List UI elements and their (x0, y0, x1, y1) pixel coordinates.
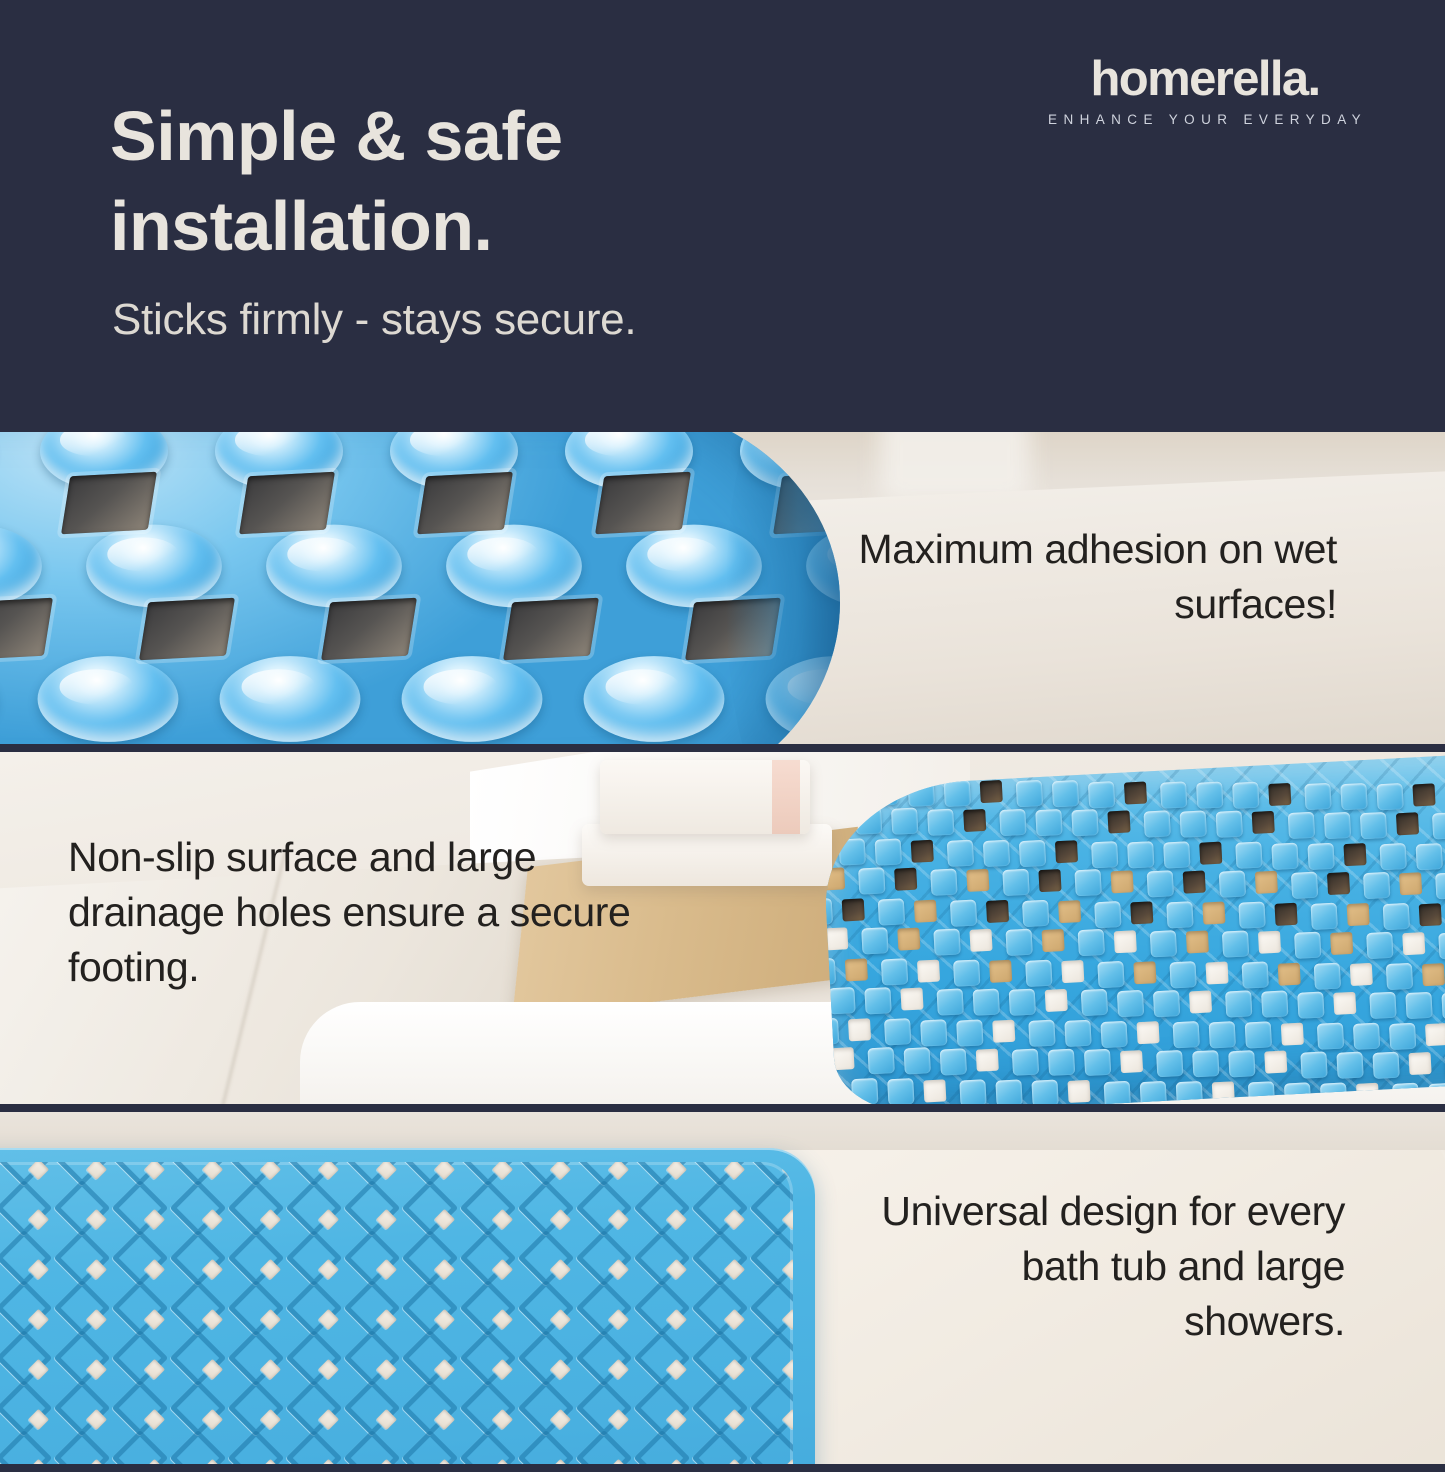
raised-square (1196, 782, 1223, 809)
raised-square (947, 839, 974, 866)
drainage-hole (911, 839, 934, 862)
diamond-motif (54, 1230, 111, 1287)
raised-square (908, 779, 935, 806)
diamond-motif (576, 1180, 633, 1237)
drainage-hole (900, 988, 923, 1011)
diamond-motif (460, 1180, 517, 1237)
diamond-motif (576, 1380, 633, 1437)
drainage-hole (976, 1048, 999, 1071)
brand-tagline: ENHANCE YOUR EVERYDAY (1048, 113, 1367, 127)
drainage-hole (1350, 963, 1373, 986)
drainage-hole (1327, 872, 1350, 895)
suction-cup (0, 525, 42, 608)
brand-logo: homerella. ENHANCE YOUR EVERYDAY (1043, 55, 1367, 127)
diamond-motif (576, 1280, 633, 1337)
suction-cup (86, 525, 222, 608)
raised-square (956, 1019, 983, 1046)
diamond-motif (692, 1330, 749, 1387)
diamond-motif (344, 1180, 401, 1237)
raised-square (1291, 871, 1318, 898)
drainage-hole (239, 472, 335, 535)
drainage-hole (1042, 929, 1065, 952)
diamond-motif (518, 1180, 575, 1237)
drainage-hole (1399, 872, 1422, 895)
drainage-hole (1202, 902, 1225, 925)
raised-square (953, 959, 980, 986)
raised-square (887, 1078, 914, 1105)
raised-square (1209, 1021, 1236, 1048)
raised-square (864, 987, 891, 1014)
raised-square (1317, 1022, 1344, 1049)
drainage-hole (1205, 962, 1228, 985)
drainage-hole (1061, 960, 1084, 983)
drainage-hole (963, 809, 986, 832)
raised-square (1245, 1022, 1272, 1049)
diamond-motif (402, 1180, 459, 1237)
drainage-hole (1402, 932, 1425, 955)
suction-cup (266, 525, 402, 608)
raised-square (940, 1048, 967, 1075)
diamond-motif (0, 1180, 52, 1237)
brand-name: homerella. (1043, 55, 1367, 104)
raised-square (1314, 962, 1341, 989)
drainage-hole (1330, 932, 1353, 955)
drainage-hole (1258, 931, 1281, 954)
raised-square (1156, 1050, 1183, 1077)
diamond-motif (692, 1280, 749, 1337)
drainage-hole (986, 900, 1009, 923)
diamond-motif (460, 1330, 517, 1387)
drainage-hole (1183, 871, 1206, 894)
drainage-hole (503, 598, 599, 661)
raised-square (1324, 812, 1351, 839)
diamond-motif (286, 1330, 343, 1387)
raised-square (1153, 990, 1180, 1017)
raised-square (1363, 872, 1390, 899)
drainage-hole (825, 927, 848, 950)
raised-square (881, 959, 908, 986)
drainage-hole (1409, 1052, 1432, 1075)
drainage-hole (1130, 901, 1153, 924)
diamond-motif (170, 1280, 227, 1337)
drainage-hole (1133, 961, 1156, 984)
diamond-motif (576, 1230, 633, 1287)
diamond-motif (402, 1230, 459, 1287)
page-title: Simple & safe installation. (110, 92, 870, 271)
raised-square (1288, 811, 1315, 838)
raised-square (1228, 1050, 1255, 1077)
header-banner: Simple & safe installation. Sticks firml… (0, 0, 1445, 432)
mat-underside-closeup (0, 432, 840, 746)
raised-square (1438, 932, 1445, 959)
raised-square (1225, 990, 1252, 1017)
diamond-motif (286, 1180, 343, 1237)
drainage-hole (1264, 1051, 1287, 1074)
raised-square (858, 867, 885, 894)
raised-square (1052, 780, 1079, 807)
diamond-motif (518, 1230, 575, 1287)
drainage-hole (969, 929, 992, 952)
raised-square (1002, 869, 1029, 896)
drainage-hole (321, 598, 417, 661)
diamond-motif (344, 1280, 401, 1337)
drainage-hole (1255, 871, 1278, 894)
diamond-motif (170, 1230, 227, 1287)
drainage-hole (989, 960, 1012, 983)
drainage-hole (1124, 781, 1147, 804)
raised-square (1064, 1020, 1091, 1047)
drainage-hole (1252, 811, 1275, 834)
diamond-motif (54, 1330, 111, 1387)
drainage-hole (914, 899, 937, 922)
diamond-motif (286, 1280, 343, 1337)
raised-square (959, 1079, 986, 1106)
raised-square (839, 838, 866, 865)
diamond-motif (228, 1330, 285, 1387)
drainage-hole (842, 899, 865, 922)
raised-square (875, 839, 902, 866)
raised-square (1006, 929, 1033, 956)
drainage-hole (966, 869, 989, 892)
drainage-hole (917, 959, 940, 982)
raised-square (1238, 902, 1265, 929)
caption-universal: Universal design for every bath tub and … (875, 1184, 1345, 1349)
diamond-motif (460, 1280, 517, 1337)
raised-square (1222, 931, 1249, 958)
drainage-hole (992, 1020, 1015, 1043)
mat-full-top-view (0, 1148, 815, 1472)
mat-inner-field (0, 1162, 793, 1472)
raised-square (851, 1078, 878, 1105)
diamond-motif (460, 1380, 517, 1437)
raised-square (1242, 962, 1269, 989)
page-subtitle: Sticks firmly - stays secure. (112, 294, 912, 347)
drainage-hole (1045, 989, 1068, 1012)
raised-square (1261, 991, 1288, 1018)
diamond-motif (112, 1380, 169, 1437)
suction-cup (38, 656, 179, 742)
raised-square (1219, 871, 1246, 898)
diamond-motif (286, 1230, 343, 1287)
raised-square (999, 809, 1026, 836)
drainage-hole (1199, 842, 1222, 865)
raised-square (1336, 1051, 1363, 1078)
raised-square (1117, 990, 1144, 1017)
raised-square (1372, 1052, 1399, 1079)
diamond-motif (750, 1330, 793, 1387)
drainage-hole (1419, 904, 1442, 927)
raised-square (1160, 781, 1187, 808)
raised-square (1307, 843, 1334, 870)
raised-square (1025, 960, 1052, 987)
raised-square (1084, 1049, 1111, 1076)
diamond-motif (112, 1330, 169, 1387)
raised-square (1019, 840, 1046, 867)
raised-square (1150, 930, 1177, 957)
raised-square (1071, 809, 1098, 836)
drainage-hole (1058, 900, 1081, 923)
raised-square (920, 1019, 947, 1046)
drainage-hole (1412, 784, 1435, 807)
raised-square (973, 988, 1000, 1015)
drainage-hole (1268, 783, 1291, 806)
raised-square (1366, 932, 1393, 959)
drainage-hole (1422, 964, 1445, 987)
diamond-motif (634, 1380, 691, 1437)
raised-square (1173, 1021, 1200, 1048)
diamond-motif (750, 1180, 793, 1237)
diamond-motif (750, 1380, 793, 1437)
raised-square (1294, 931, 1321, 958)
diamond-motif (460, 1230, 517, 1287)
drainage-hole (1038, 869, 1061, 892)
raised-square (1163, 841, 1190, 868)
diamond-motif (634, 1230, 691, 1287)
raised-square (1147, 870, 1174, 897)
raised-square (995, 1079, 1022, 1106)
raised-square (1311, 902, 1338, 929)
drainage-hole (139, 598, 235, 661)
drainage-hole (1107, 810, 1130, 833)
drainage-hole (923, 1079, 946, 1102)
raised-square (1216, 811, 1243, 838)
diamond-motif (228, 1180, 285, 1237)
raised-square (1166, 901, 1193, 928)
diamond-motif (344, 1380, 401, 1437)
diamond-motif (692, 1380, 749, 1437)
raised-square (891, 808, 918, 835)
bottom-border (0, 1464, 1445, 1472)
diamond-motif (112, 1180, 169, 1237)
diamond-motif (0, 1380, 52, 1437)
panel-divider (0, 1104, 1445, 1112)
drainage-hole (1114, 930, 1137, 953)
raised-square (861, 927, 888, 954)
caption-non-slip: Non-slip surface and large drainage hole… (68, 830, 668, 995)
drainage-hole (831, 1047, 854, 1070)
drainage-hole (1425, 1023, 1445, 1046)
diamond-motif (54, 1380, 111, 1437)
diamond-motif (0, 1330, 52, 1387)
raised-square (1031, 1080, 1058, 1106)
raised-square (855, 808, 882, 835)
raised-square (1416, 843, 1443, 870)
diamond-motif (402, 1280, 459, 1337)
suction-cup (446, 525, 582, 608)
towel-stack-upper (600, 760, 810, 834)
diamond-motif (112, 1230, 169, 1287)
drainage-hole (845, 959, 868, 982)
drainage-hole (822, 867, 845, 890)
drainage-hole (595, 472, 691, 535)
drainage-hole (1120, 1050, 1143, 1073)
raised-square (1088, 781, 1115, 808)
diamond-motif (518, 1280, 575, 1337)
raised-square (1097, 960, 1124, 987)
diamond-motif (170, 1380, 227, 1437)
suction-cup (584, 656, 725, 742)
raised-square (1389, 1023, 1416, 1050)
diamond-motif (228, 1230, 285, 1287)
drainage-hole (1396, 812, 1419, 835)
mat-draped-over-tub (820, 752, 1445, 1106)
diamond-motif (750, 1230, 793, 1287)
raised-square (930, 868, 957, 895)
raised-square (868, 1047, 895, 1074)
drainage-hole (1278, 962, 1301, 985)
drainage-hole (61, 472, 157, 535)
diamond-motif (170, 1330, 227, 1387)
diamond-motif (170, 1180, 227, 1237)
raised-square (1081, 989, 1108, 1016)
raised-square (983, 840, 1010, 867)
diamond-motif (54, 1180, 111, 1237)
raised-square (1304, 783, 1331, 810)
raised-square (1169, 961, 1196, 988)
raised-square (1074, 869, 1101, 896)
raised-square (828, 987, 855, 1014)
raised-square (1180, 810, 1207, 837)
raised-square (1035, 809, 1062, 836)
diamond-motif (0, 1230, 52, 1287)
diamond-motif (112, 1280, 169, 1337)
diamond-motif (576, 1330, 633, 1387)
diamond-motif (228, 1280, 285, 1337)
tub-back-edge (0, 1112, 1445, 1150)
raised-square (1012, 1048, 1039, 1075)
drainage-hole (1186, 930, 1209, 953)
raised-square (1441, 992, 1445, 1019)
raised-square (1353, 1023, 1380, 1050)
drainage-hole (1055, 841, 1078, 864)
raised-square (1300, 1051, 1327, 1078)
diamond-motif (634, 1280, 691, 1337)
raised-square (1271, 842, 1298, 869)
diamond-motif (692, 1180, 749, 1237)
drainage-hole (980, 780, 1003, 803)
diamond-motif (228, 1380, 285, 1437)
diamond-motif (692, 1230, 749, 1287)
drainage-hole (1343, 843, 1366, 866)
raised-square (884, 1019, 911, 1046)
raised-square (1100, 1020, 1127, 1047)
raised-square (1192, 1050, 1219, 1077)
raised-square (1383, 903, 1410, 930)
diamond-motif (54, 1280, 111, 1337)
raised-square (904, 1048, 931, 1075)
drainage-hole (1347, 903, 1370, 926)
diamond-motif (634, 1330, 691, 1387)
raised-square (937, 988, 964, 1015)
raised-square (1022, 900, 1049, 927)
drainage-hole (0, 598, 53, 661)
drainage-hole (894, 868, 917, 891)
raised-square (1435, 872, 1445, 899)
raised-square (1016, 780, 1043, 807)
diamond-motif (286, 1380, 343, 1437)
diamond-motif (750, 1280, 793, 1337)
raised-square (1048, 1049, 1075, 1076)
diamond-motif (0, 1280, 52, 1337)
raised-square (1232, 782, 1259, 809)
raised-square (1235, 842, 1262, 869)
raised-square (878, 899, 905, 926)
panel-divider (0, 744, 1445, 752)
raised-square (950, 899, 977, 926)
drainage-hole (848, 1018, 871, 1041)
suction-cup (220, 656, 361, 742)
raised-square (1405, 992, 1432, 1019)
raised-square (1143, 810, 1170, 837)
drainage-hole (1281, 1022, 1304, 1045)
raised-square (1376, 783, 1403, 810)
raised-square (1432, 813, 1445, 840)
mat-diamond-pattern (0, 1162, 793, 1472)
caption-adhesion: Maximum adhesion on wet surfaces! (777, 522, 1337, 632)
raised-square (1340, 783, 1367, 810)
drainage-hole (1189, 990, 1212, 1013)
diamond-motif (518, 1330, 575, 1387)
raised-square (1297, 991, 1324, 1018)
raised-square (1009, 989, 1036, 1016)
raised-square (1028, 1020, 1055, 1047)
drainage-hole (820, 807, 842, 830)
drainage-hole (1274, 902, 1297, 925)
drainage-hole (417, 472, 513, 535)
raised-square (1127, 841, 1154, 868)
product-infographic: Simple & safe installation. Sticks firml… (0, 0, 1445, 1472)
drainage-hole (1111, 870, 1134, 893)
diamond-motif (634, 1180, 691, 1237)
diamond-motif (344, 1330, 401, 1387)
drainage-hole (1137, 1021, 1160, 1044)
drainage-hole (1333, 992, 1356, 1015)
drainage-hole (1068, 1080, 1091, 1103)
raised-square (1360, 812, 1387, 839)
raised-square (1091, 841, 1118, 868)
raised-square (1386, 963, 1413, 990)
raised-square (1078, 929, 1105, 956)
suction-cup (402, 656, 543, 742)
raised-square (944, 780, 971, 807)
raised-square (1104, 1080, 1131, 1106)
raised-square (933, 928, 960, 955)
raised-square (1380, 843, 1407, 870)
raised-square (927, 808, 954, 835)
diamond-motif (402, 1380, 459, 1437)
diamond-motif (518, 1380, 575, 1437)
drainage-hole (897, 928, 920, 951)
diamond-motif (344, 1230, 401, 1287)
raised-square (1094, 901, 1121, 928)
diamond-motif (402, 1330, 459, 1387)
raised-square (1369, 992, 1396, 1019)
